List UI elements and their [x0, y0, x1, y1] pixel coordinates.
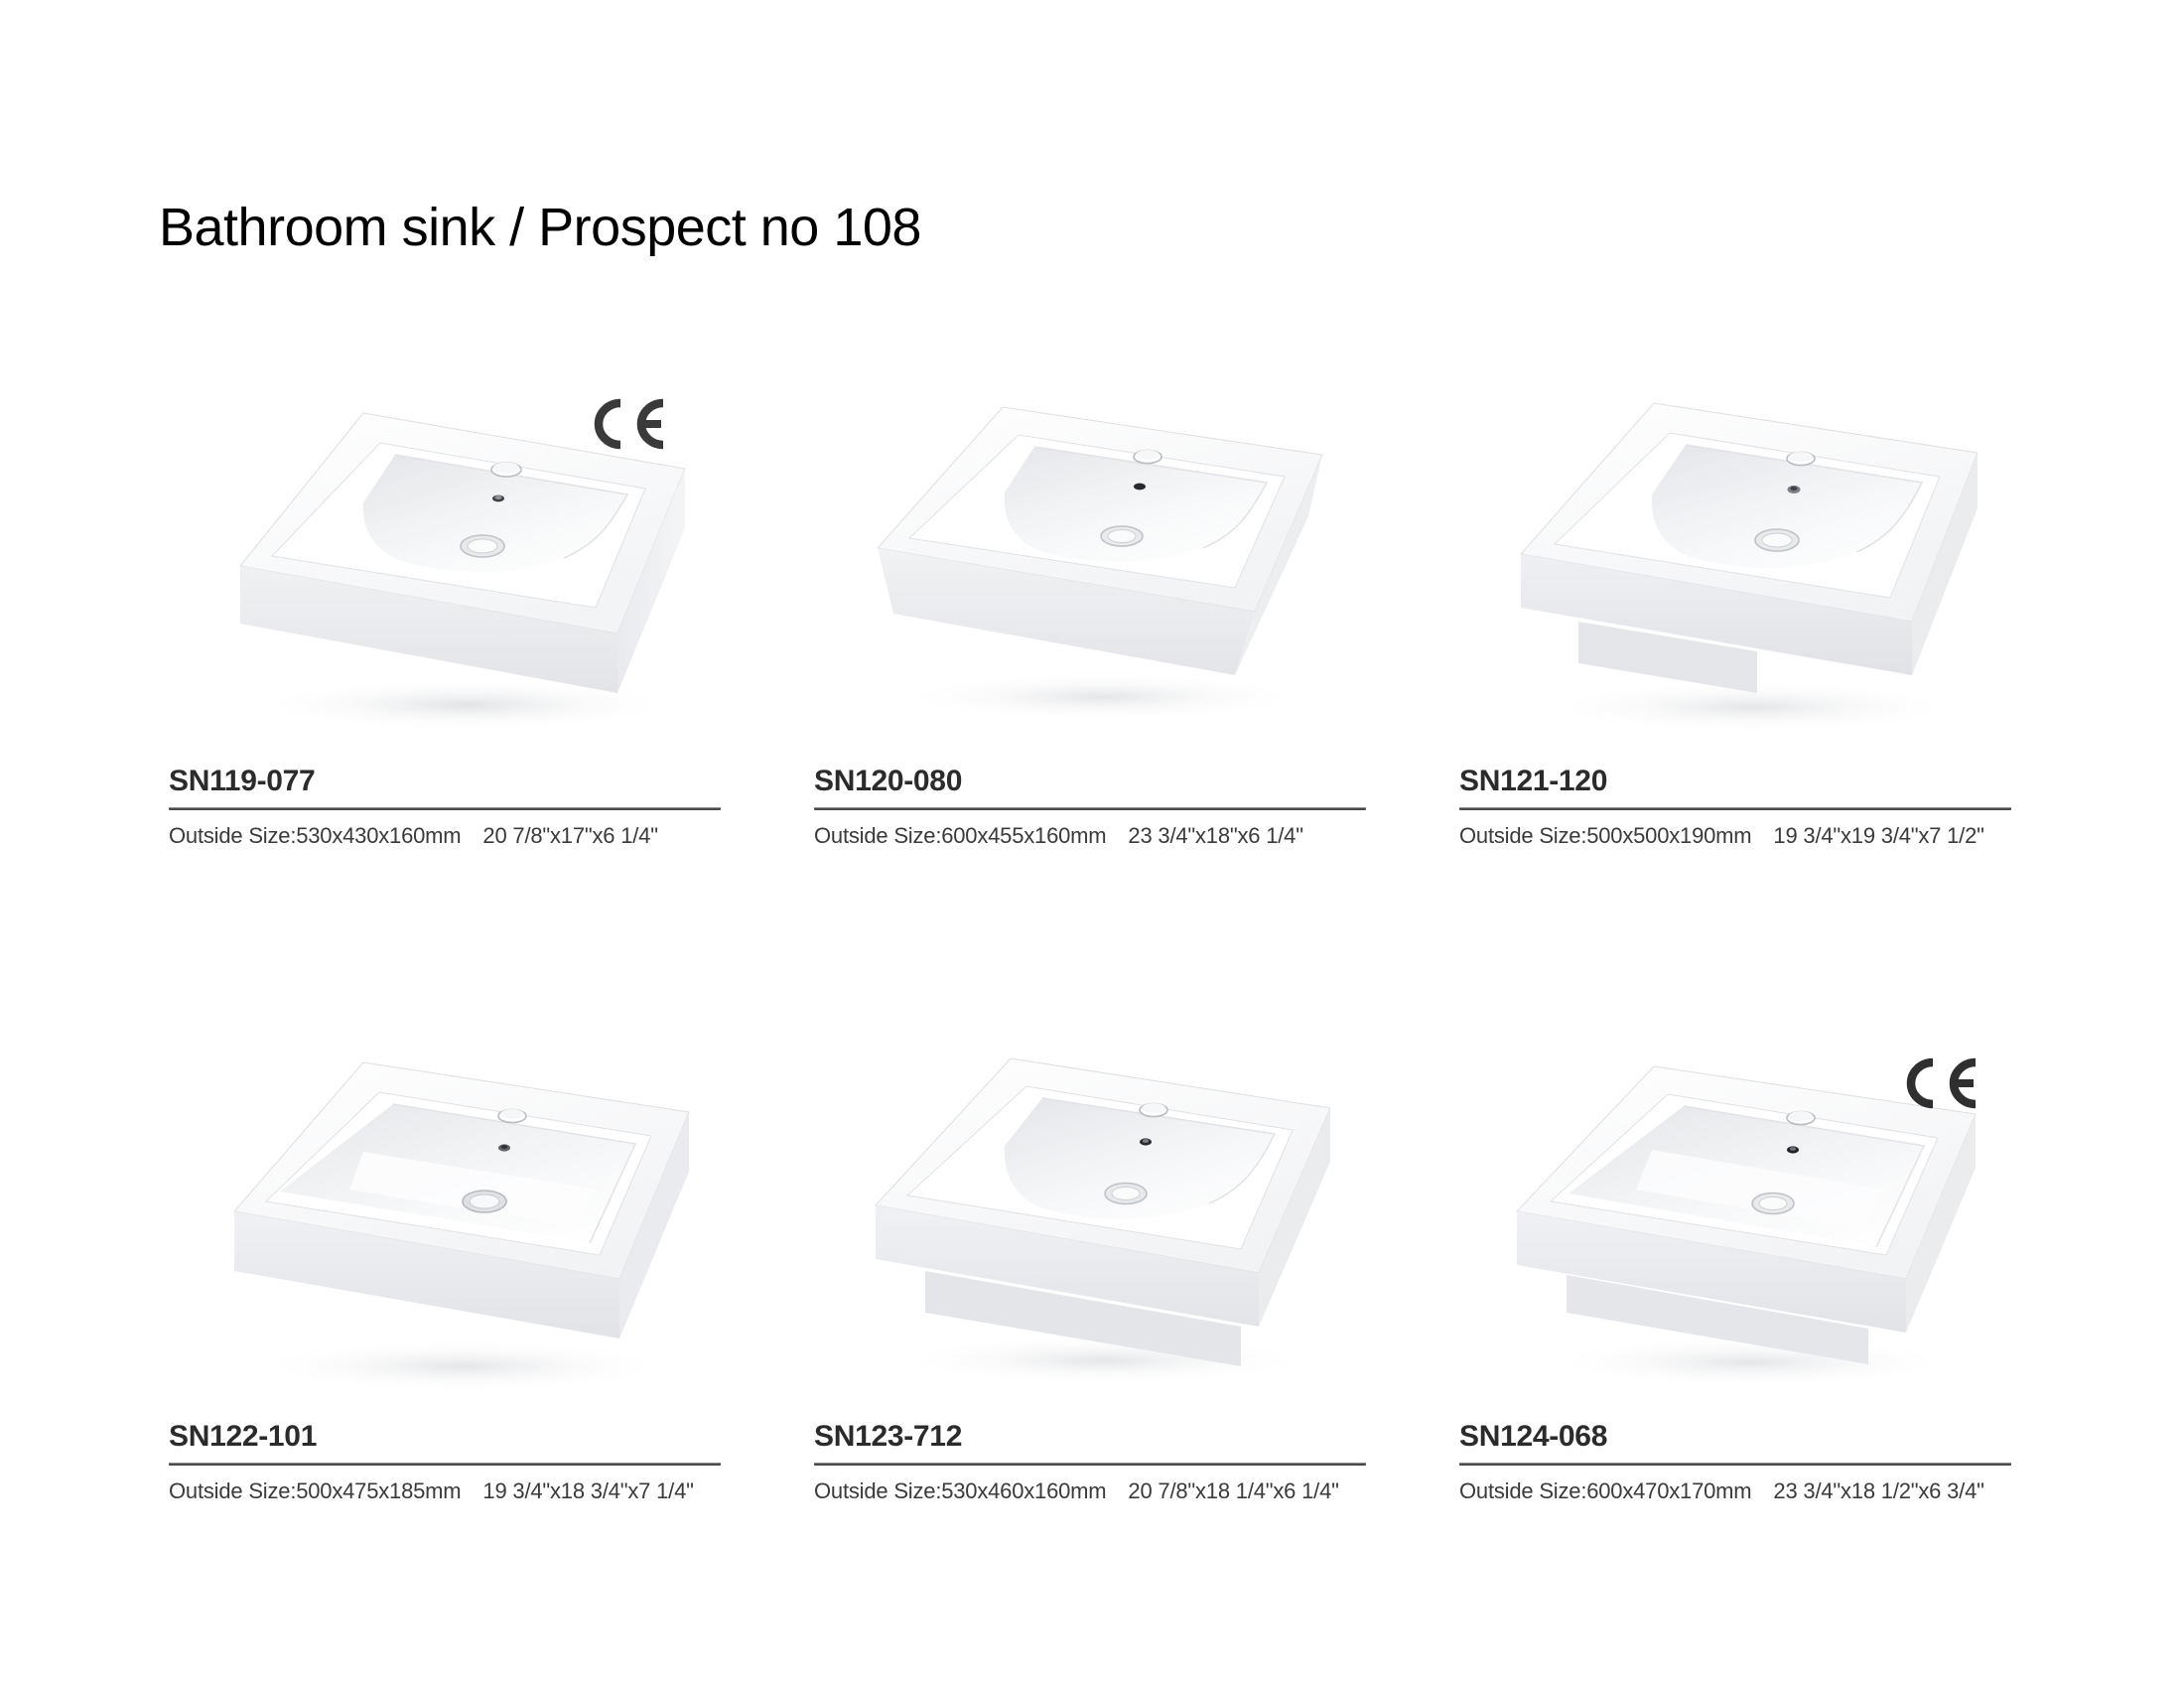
product-size: Outside Size:530x460x160mm20 7/8"x18 1/4…: [814, 1478, 1370, 1504]
product-size-imperial: 23 3/4"x18 1/2"x6 3/4": [1773, 1478, 1983, 1503]
product-size-imperial: 20 7/8"x17"x6 1/4": [482, 823, 657, 848]
product-size-metric: Outside Size:530x460x160mm: [814, 1478, 1106, 1503]
product-code: SN122-101: [169, 1420, 725, 1454]
product-size-imperial: 19 3/4"x18 3/4"x7 1/4": [482, 1478, 693, 1503]
product-size: Outside Size:500x475x185mm19 3/4"x18 3/4…: [169, 1478, 725, 1504]
product-card[interactable]: SN120-080 Outside Size:600x455x160mm23 3…: [814, 377, 1370, 849]
product-photo-sn121-120: [1459, 377, 2015, 765]
page-title: Bathroom sink / Prospect no 108: [159, 197, 921, 258]
product-photo-sn120-080: [814, 377, 1370, 765]
divider-rule: [169, 807, 721, 810]
product-size-metric: Outside Size:600x470x170mm: [1459, 1478, 1751, 1503]
product-size: Outside Size:600x455x160mm23 3/4"x18"x6 …: [814, 823, 1370, 849]
product-size-imperial: 19 3/4"x19 3/4"x7 1/2": [1773, 823, 1983, 848]
product-size: Outside Size:500x500x190mm19 3/4"x19 3/4…: [1459, 823, 2015, 849]
divider-rule: [814, 807, 1366, 810]
product-card[interactable]: SN124-068 Outside Size:600x470x170mm23 3…: [1459, 1033, 2015, 1504]
product-size-imperial: 23 3/4"x18"x6 1/4": [1128, 823, 1302, 848]
product-row: SN119-077 Outside Size:530x430x160mm20 7…: [0, 377, 2184, 1033]
product-code: SN120-080: [814, 765, 1370, 798]
product-size-metric: Outside Size:500x500x190mm: [1459, 823, 1751, 848]
product-size-metric: Outside Size:600x455x160mm: [814, 823, 1106, 848]
product-grid: SN119-077 Outside Size:530x430x160mm20 7…: [0, 377, 2184, 1688]
divider-rule: [1459, 1463, 2011, 1466]
divider-rule: [169, 1463, 721, 1466]
product-code: SN124-068: [1459, 1420, 2015, 1454]
product-row: SN122-101 Outside Size:500x475x185mm19 3…: [0, 1033, 2184, 1688]
divider-rule: [814, 1463, 1366, 1466]
ce-mark-icon: [590, 395, 667, 453]
product-code: SN119-077: [169, 765, 725, 798]
product-card[interactable]: SN122-101 Outside Size:500x475x185mm19 3…: [169, 1033, 725, 1504]
product-photo-sn123-712: [814, 1033, 1370, 1420]
product-size: Outside Size:530x430x160mm20 7/8"x17"x6 …: [169, 823, 725, 849]
product-card[interactable]: SN123-712 Outside Size:530x460x160mm20 7…: [814, 1033, 1370, 1504]
product-photo-sn119-077: [169, 377, 725, 765]
product-size-metric: Outside Size:500x475x185mm: [169, 1478, 461, 1503]
product-code: SN123-712: [814, 1420, 1370, 1454]
product-code: SN121-120: [1459, 765, 2015, 798]
product-photo-sn124-068: [1459, 1033, 2015, 1420]
product-card[interactable]: SN119-077 Outside Size:530x430x160mm20 7…: [169, 377, 725, 849]
ce-mark-icon: [1902, 1055, 1979, 1112]
product-card[interactable]: SN121-120 Outside Size:500x500x190mm19 3…: [1459, 377, 2015, 849]
product-size-metric: Outside Size:530x430x160mm: [169, 823, 461, 848]
product-size: Outside Size:600x470x170mm23 3/4"x18 1/2…: [1459, 1478, 2015, 1504]
product-photo-sn122-101: [169, 1033, 725, 1420]
divider-rule: [1459, 807, 2011, 810]
product-size-imperial: 20 7/8"x18 1/4"x6 1/4": [1128, 1478, 1338, 1503]
